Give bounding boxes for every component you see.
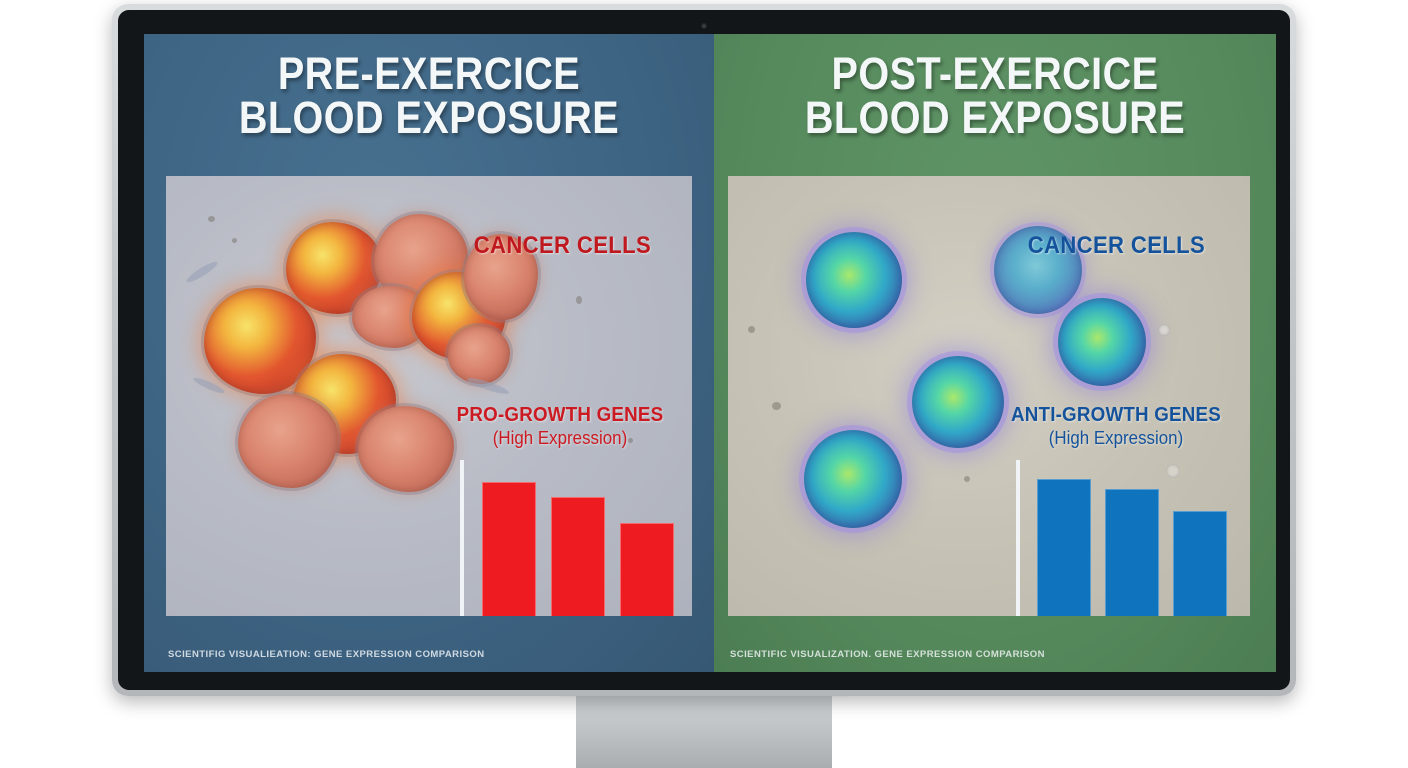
cancer-cell xyxy=(358,406,454,492)
chart-bars xyxy=(474,460,682,616)
panel-pre-title-line2: BLOOD EXPOSURE xyxy=(178,96,680,140)
micrograph-post-exercise: CANCER CELLS ANTI-GROWTH GENES (High Exp… xyxy=(728,176,1250,616)
monitor-bezel: PRE-EXERCICE BLOOD EXPOSURE xyxy=(118,10,1290,690)
cancer-cell xyxy=(806,232,902,328)
bar-gene-b xyxy=(551,497,605,616)
cancer-cell xyxy=(1058,298,1146,386)
micrograph-pre-exercise: CANCER CELLS PRO-GROWTH GENES (High Expr… xyxy=(166,176,692,616)
panel-post-exercise: POST-EXERCICE BLOOD EXPOSURE CANCER CELL… xyxy=(714,34,1276,672)
monitor-stand xyxy=(576,696,832,768)
debris-speck xyxy=(208,216,215,222)
bar-column xyxy=(613,460,682,616)
debris-speck xyxy=(748,326,755,333)
chart-y-axis xyxy=(460,460,464,616)
bar-column xyxy=(1166,460,1234,616)
bar-column xyxy=(543,460,612,616)
cancer-cells-label-pre: CANCER CELLS xyxy=(474,232,651,260)
bar-gene-f xyxy=(1173,511,1227,616)
panel-post-title-line2: BLOOD EXPOSURE xyxy=(748,96,1243,140)
cancer-cell xyxy=(912,356,1004,448)
debris-speck xyxy=(576,296,582,304)
caption-pre: SCIENTIFIG VISUALIEATION: GENE EXPRESSIO… xyxy=(168,649,485,660)
chart-y-axis xyxy=(1016,460,1020,616)
pro-growth-genes-subheading: (High Expression) xyxy=(443,428,676,449)
caption-post: SCIENTIFIC VISUALIZATION. GENE EXPRESSIO… xyxy=(730,649,1045,660)
cell-protrusion xyxy=(185,259,220,285)
debris-speck xyxy=(964,476,970,482)
bar-column xyxy=(1098,460,1166,616)
bar-gene-a xyxy=(482,482,536,616)
debris-speck xyxy=(232,238,237,243)
webcam-icon xyxy=(701,23,707,29)
cancer-cell xyxy=(448,326,510,384)
bar-chart-pro-growth: Gene AGene BGene C xyxy=(460,460,686,616)
bar-gene-e xyxy=(1105,489,1159,616)
cancer-cell xyxy=(238,394,338,488)
screen-content: PRE-EXERCICE BLOOD EXPOSURE xyxy=(144,34,1276,672)
bar-chart-anti-growth: Gene DGene EGene F xyxy=(1016,460,1238,616)
pro-growth-genes-heading: PRO-GROWTH GENES xyxy=(443,404,676,427)
anti-growth-genes-label: ANTI-GROWTH GENES (High Expression) xyxy=(999,404,1232,449)
bar-column xyxy=(1030,460,1098,616)
panel-pre-exercise: PRE-EXERCICE BLOOD EXPOSURE xyxy=(144,34,714,672)
panel-pre-title: PRE-EXERCICE BLOOD EXPOSURE xyxy=(178,52,680,140)
pro-growth-genes-label: PRO-GROWTH GENES (High Expression) xyxy=(443,404,676,449)
debris-speck xyxy=(772,402,781,410)
bar-gene-c xyxy=(620,523,674,616)
debris-speck xyxy=(1158,324,1170,336)
bar-gene-d xyxy=(1037,479,1091,616)
computer-monitor: PRE-EXERCICE BLOOD EXPOSURE xyxy=(112,4,1296,696)
anti-growth-genes-subheading: (High Expression) xyxy=(999,428,1232,449)
bar-column xyxy=(474,460,543,616)
cancer-cell xyxy=(804,430,902,528)
anti-growth-genes-heading: ANTI-GROWTH GENES xyxy=(999,404,1232,427)
cancer-cells-label-post: CANCER CELLS xyxy=(1028,232,1205,260)
chart-bars xyxy=(1030,460,1234,616)
panel-post-title: POST-EXERCICE BLOOD EXPOSURE xyxy=(748,52,1243,140)
